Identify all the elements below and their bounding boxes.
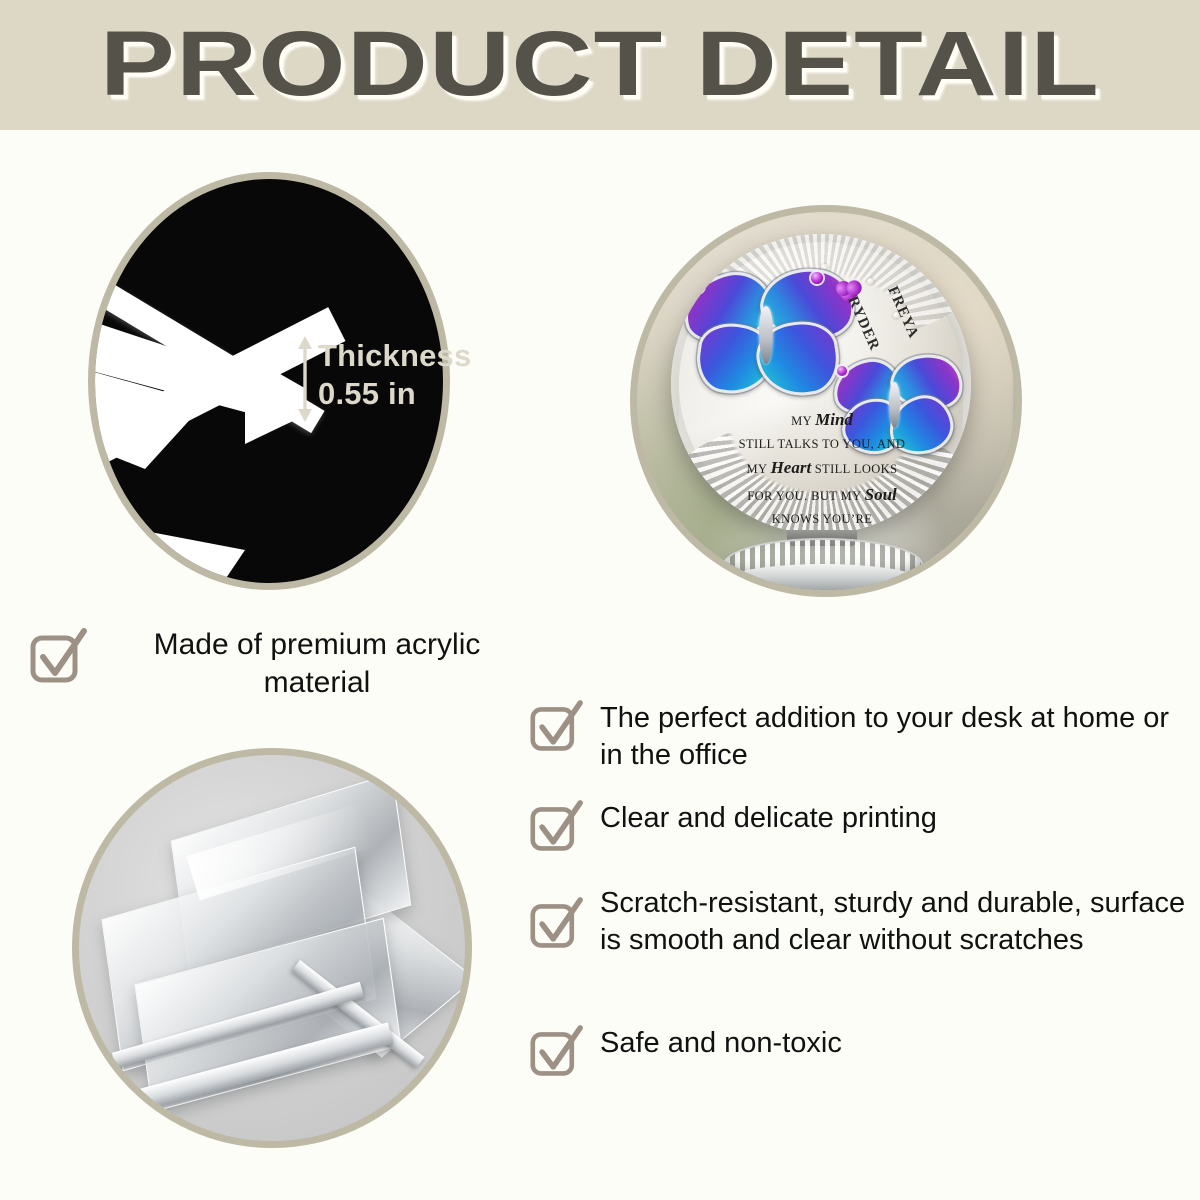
product-photo-circle: RYDER FREYA MY Mind STILL TALKS TO YOU, …	[630, 205, 1022, 597]
poem-line-3: MY Heart STILL LOOKS	[711, 454, 933, 482]
feature-label: Safe and non-toxic	[600, 1025, 842, 1062]
feature-item-clear-printing: Clear and delicate printing	[530, 800, 1190, 854]
wing-gem	[837, 366, 847, 376]
checkbox-checked-icon	[530, 802, 582, 854]
feature-label: Scratch-resistant, sturdy and durable, s…	[600, 885, 1190, 958]
feature-label: Clear and delicate printing	[600, 800, 937, 837]
poem-line-2: STILL TALKS TO YOU, AND	[711, 434, 933, 454]
checkbox-checked-icon	[30, 630, 86, 686]
poem-line-4: FOR YOU. BUT MY Soul	[711, 481, 933, 509]
checkbox-checked-icon	[530, 702, 582, 754]
feature-label: Made of premium acrylic material	[102, 626, 532, 702]
butterfly-plaque: RYDER FREYA MY Mind STILL TALKS TO YOU, …	[671, 234, 971, 534]
feature-item-perfect-desk-addition: The perfect addition to your desk at hom…	[530, 700, 1190, 773]
thickness-arrow-icon	[296, 336, 314, 422]
thickness-label-line1: Thickness	[318, 337, 471, 375]
poem-line-5: KNOWS YOU’RE	[711, 509, 933, 529]
thickness-callout: Thickness 0.55 in	[318, 337, 471, 413]
checkbox-checked-icon	[530, 1027, 582, 1079]
wing-gem	[811, 272, 823, 284]
feature-item-premium-acrylic: Made of premium acrylic material	[30, 626, 550, 702]
wing-gem	[691, 280, 704, 293]
feature-item-safe-non-toxic: Safe and non-toxic	[530, 1025, 1190, 1079]
large-butterfly	[683, 268, 851, 398]
feature-item-scratch-resistant: Scratch-resistant, sturdy and durable, s…	[530, 885, 1190, 958]
poem-line-1: MY Mind	[711, 406, 933, 434]
pearl-accent	[867, 278, 874, 285]
acrylic-sheets-photo-circle	[72, 748, 472, 1148]
plaque-stand-base-lip	[723, 564, 923, 597]
acrylic-reflection	[135, 529, 245, 590]
engraved-poem: MY Mind STILL TALKS TO YOU, AND MY Heart…	[711, 406, 933, 534]
thickness-label-line2: 0.55 in	[318, 375, 471, 413]
feature-label: The perfect addition to your desk at hom…	[600, 700, 1190, 773]
checkbox-checked-icon	[530, 899, 582, 951]
page-title: PRODUCT DETAIL	[0, 8, 1200, 120]
